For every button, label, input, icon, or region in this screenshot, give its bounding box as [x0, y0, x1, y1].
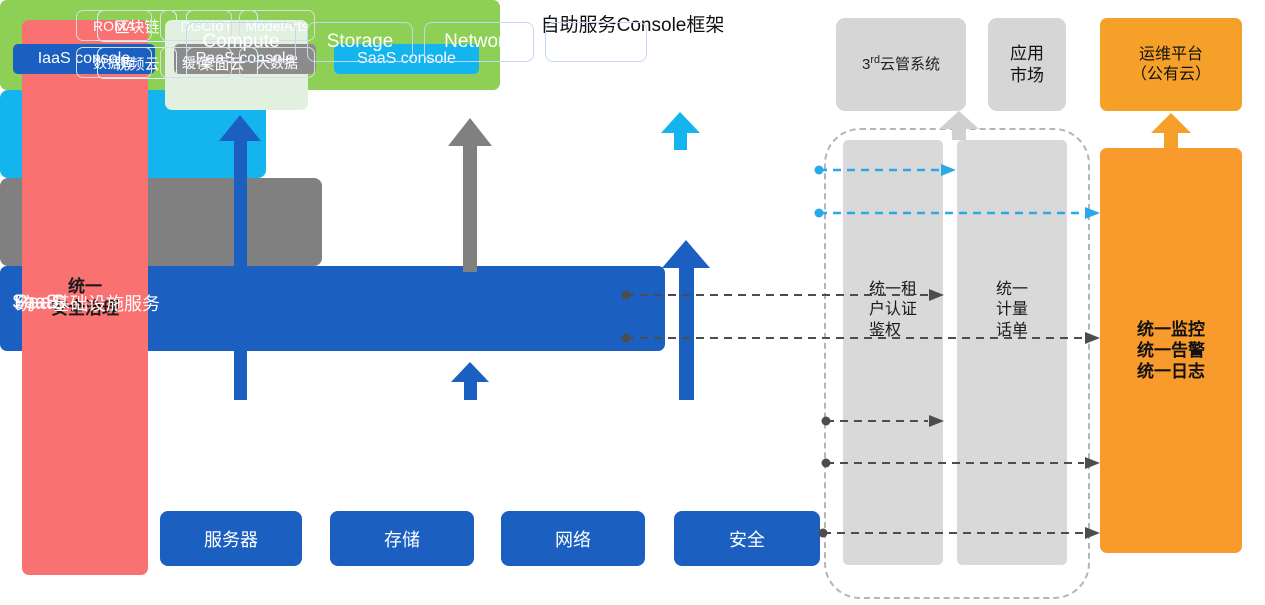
app-market-box: 应用 市场	[988, 18, 1066, 111]
arrow-infra-to-saas	[662, 240, 710, 400]
hardware-item-server-label: 服务器	[204, 526, 258, 552]
ops-platform-public-cloud-box: 运维平台 （公有云）	[1100, 18, 1242, 111]
third-party-cloud-label: 3rd云管系统	[862, 54, 940, 75]
unified-tenant-auth-column: 统一租 户认证 鉴权	[843, 140, 943, 565]
hardware-item-storage-label: 存储	[384, 526, 420, 552]
auth-line2: 户认证	[869, 300, 917, 320]
infra-item-cce[interactable]: CCE	[545, 22, 647, 62]
hardware-item-storage[interactable]: 存储	[330, 511, 474, 566]
arrow-paas-to-console	[448, 118, 492, 272]
infra-item-compute[interactable]: Compute	[186, 22, 296, 62]
third-party-cloud-management-box: 3rd云管系统	[836, 18, 966, 111]
unified-metering-billing-column: 统一 计量 话单	[957, 140, 1067, 565]
ops-platform-line1: 运维平台	[1131, 45, 1211, 65]
infra-item-cce-label: CCE	[576, 31, 616, 53]
auth-line3: 鉴权	[869, 321, 917, 341]
app-market-line1: 应用	[1010, 43, 1044, 64]
auth-line1: 统一租	[869, 280, 917, 300]
billing-line1: 统一	[996, 280, 1028, 300]
arrow-infra-to-paas	[451, 362, 489, 400]
hardware-item-security-label: 安全	[729, 526, 765, 552]
infra-item-network-label: Network	[444, 31, 514, 53]
architecture-diagram: 统一 安全治理 API网关 自助服务Console框架 IaaS console…	[0, 0, 1265, 605]
app-market-line2: 市场	[1010, 65, 1044, 86]
billing-line3: 话单	[996, 321, 1028, 341]
infra-item-compute-label: Compute	[202, 31, 279, 53]
arrow-saas-to-saas-console	[661, 112, 700, 150]
hardware-item-server[interactable]: 服务器	[160, 511, 302, 566]
infrastructure-layer-label: 统一基础设施服务	[16, 0, 160, 605]
unified-monitoring-column: 统一监控 统一告警 统一日志	[1100, 148, 1242, 553]
infrastructure-layer-box: 统一基础设施服务 Compute Storage Network CCE	[0, 266, 665, 351]
unified-monitoring-line3: 统一日志	[1137, 361, 1205, 382]
hardware-item-security[interactable]: 安全	[674, 511, 820, 566]
unified-monitoring-line1: 统一监控	[1137, 319, 1205, 340]
billing-line2: 计量	[996, 300, 1028, 320]
ops-platform-line2: （公有云）	[1131, 65, 1211, 85]
third-party-suffix: 云管系统	[880, 56, 940, 73]
infra-item-network[interactable]: Network	[424, 22, 534, 62]
third-party-sup: rd	[870, 54, 880, 66]
hardware-item-network-label: 网络	[555, 526, 591, 552]
hardware-item-network[interactable]: 网络	[501, 511, 645, 566]
unified-monitoring-line2: 统一告警	[1137, 340, 1205, 361]
infra-item-storage-label: Storage	[327, 31, 394, 53]
arrow-monitoring-to-ops-platform	[1151, 113, 1191, 148]
infra-item-storage[interactable]: Storage	[307, 22, 413, 62]
